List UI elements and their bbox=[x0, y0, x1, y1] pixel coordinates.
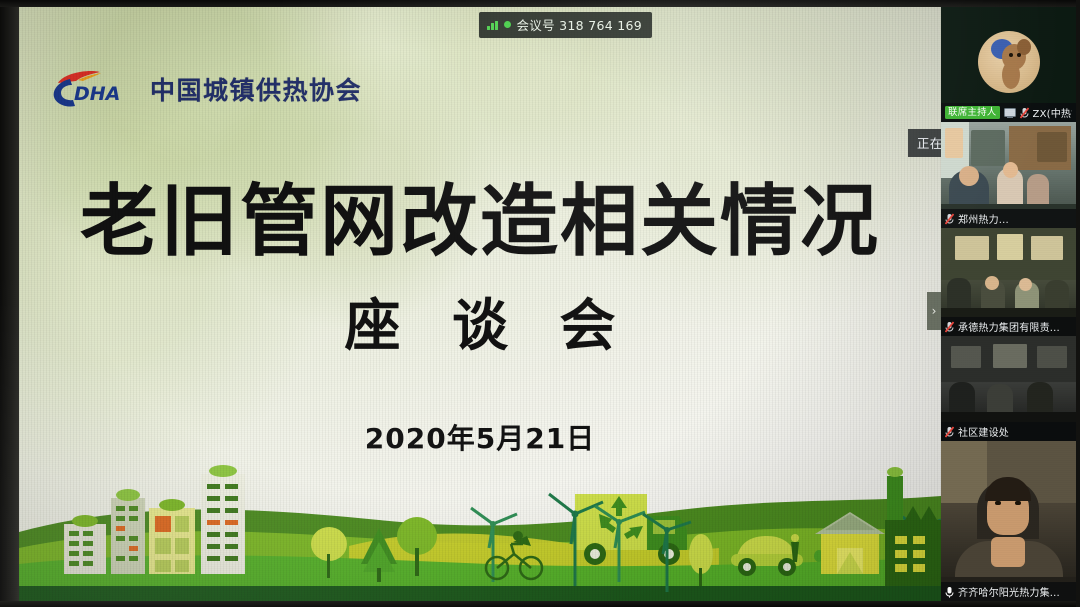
mic-active-icon bbox=[945, 586, 954, 598]
participant-tile-shequ[interactable]: 社区建设处 bbox=[941, 336, 1076, 441]
participant-nametag: 社区建设处 bbox=[941, 422, 1076, 441]
slide-title-main: 老旧管网改造相关情况 bbox=[19, 183, 941, 261]
monitor-screen: DHA 中国城镇供热协会 老旧管网改造相关情况 座 谈 会 2020年5月21日 bbox=[19, 7, 1076, 601]
cohost-badge: 联席主持人 bbox=[945, 106, 1000, 120]
signal-bars-icon bbox=[487, 20, 498, 30]
mic-muted-icon bbox=[945, 426, 954, 438]
participant-nametag: 齐齐哈尔阳光热力集... bbox=[941, 582, 1076, 601]
cartoon-mouse-avatar bbox=[978, 31, 1040, 93]
qiqihaer-video-area bbox=[941, 441, 1076, 601]
slide-date: 2020年5月21日 bbox=[19, 417, 941, 457]
participant-name-label: ZX(中热协... bbox=[1033, 105, 1072, 120]
participant-tile-chengde[interactable]: 承德热力集团有限责... bbox=[941, 228, 1076, 336]
meeting-id-bar[interactable]: 会议号 318 764 169 bbox=[479, 12, 652, 38]
screen-share-icon bbox=[1004, 108, 1016, 118]
participant-name-label: 齐齐哈尔阳光热力集... bbox=[958, 584, 1060, 599]
svg-text:DHA: DHA bbox=[74, 83, 120, 105]
slide-title-sub: 座 谈 会 bbox=[19, 299, 941, 355]
logo-org-name: 中国城镇供热协会 bbox=[150, 71, 362, 107]
photographed-monitor: DHA 中国城镇供热协会 老旧管网改造相关情况 座 谈 会 2020年5月21日 bbox=[0, 0, 1080, 607]
participant-name-label: 承德热力集团有限责... bbox=[958, 319, 1060, 334]
cdha-swoosh-icon: DHA bbox=[48, 69, 141, 109]
eco-factory-group bbox=[885, 467, 941, 586]
participant-nametag: 承德热力集团有限责... bbox=[941, 317, 1076, 336]
meeting-id-label: 会议号 318 764 169 bbox=[517, 15, 643, 34]
participant-nametag: 联席主持人 ZX(中热协... bbox=[941, 103, 1076, 122]
green-eco-city-illustration bbox=[19, 436, 941, 601]
participant-filmstrip[interactable]: 联席主持人 ZX(中热协... bbox=[941, 7, 1076, 601]
participant-nametag: 郑州热力... bbox=[941, 209, 1076, 228]
participant-name-label: 郑州热力... bbox=[958, 211, 1009, 226]
monitor-bezel-top bbox=[0, 0, 1080, 7]
cdha-logo: DHA 中国城镇供热协会 bbox=[48, 69, 362, 109]
filmstrip-collapse-handle[interactable]: › bbox=[927, 292, 941, 330]
participant-tile-zhengzhou[interactable]: 郑州热力... bbox=[941, 122, 1076, 228]
participant-tile-avatar[interactable]: 联席主持人 ZX(中热协... bbox=[941, 7, 1076, 122]
monitor-bezel-bottom bbox=[0, 601, 1080, 607]
mic-muted-icon bbox=[945, 321, 954, 333]
mic-muted-icon bbox=[1020, 107, 1029, 119]
shared-presentation-slide[interactable]: DHA 中国城镇供热协会 老旧管网改造相关情况 座 谈 会 2020年5月21日 bbox=[19, 7, 941, 601]
participant-name-label: 社区建设处 bbox=[958, 424, 1009, 439]
participant-tile-qiqihaer[interactable]: 齐齐哈尔阳光热力集... bbox=[941, 441, 1076, 601]
mic-muted-icon bbox=[945, 213, 954, 225]
monitor-bezel-right bbox=[1076, 0, 1080, 607]
recording-dot-icon bbox=[504, 21, 511, 28]
monitor-bezel-left bbox=[0, 0, 19, 607]
chevron-right-icon: › bbox=[932, 305, 937, 317]
